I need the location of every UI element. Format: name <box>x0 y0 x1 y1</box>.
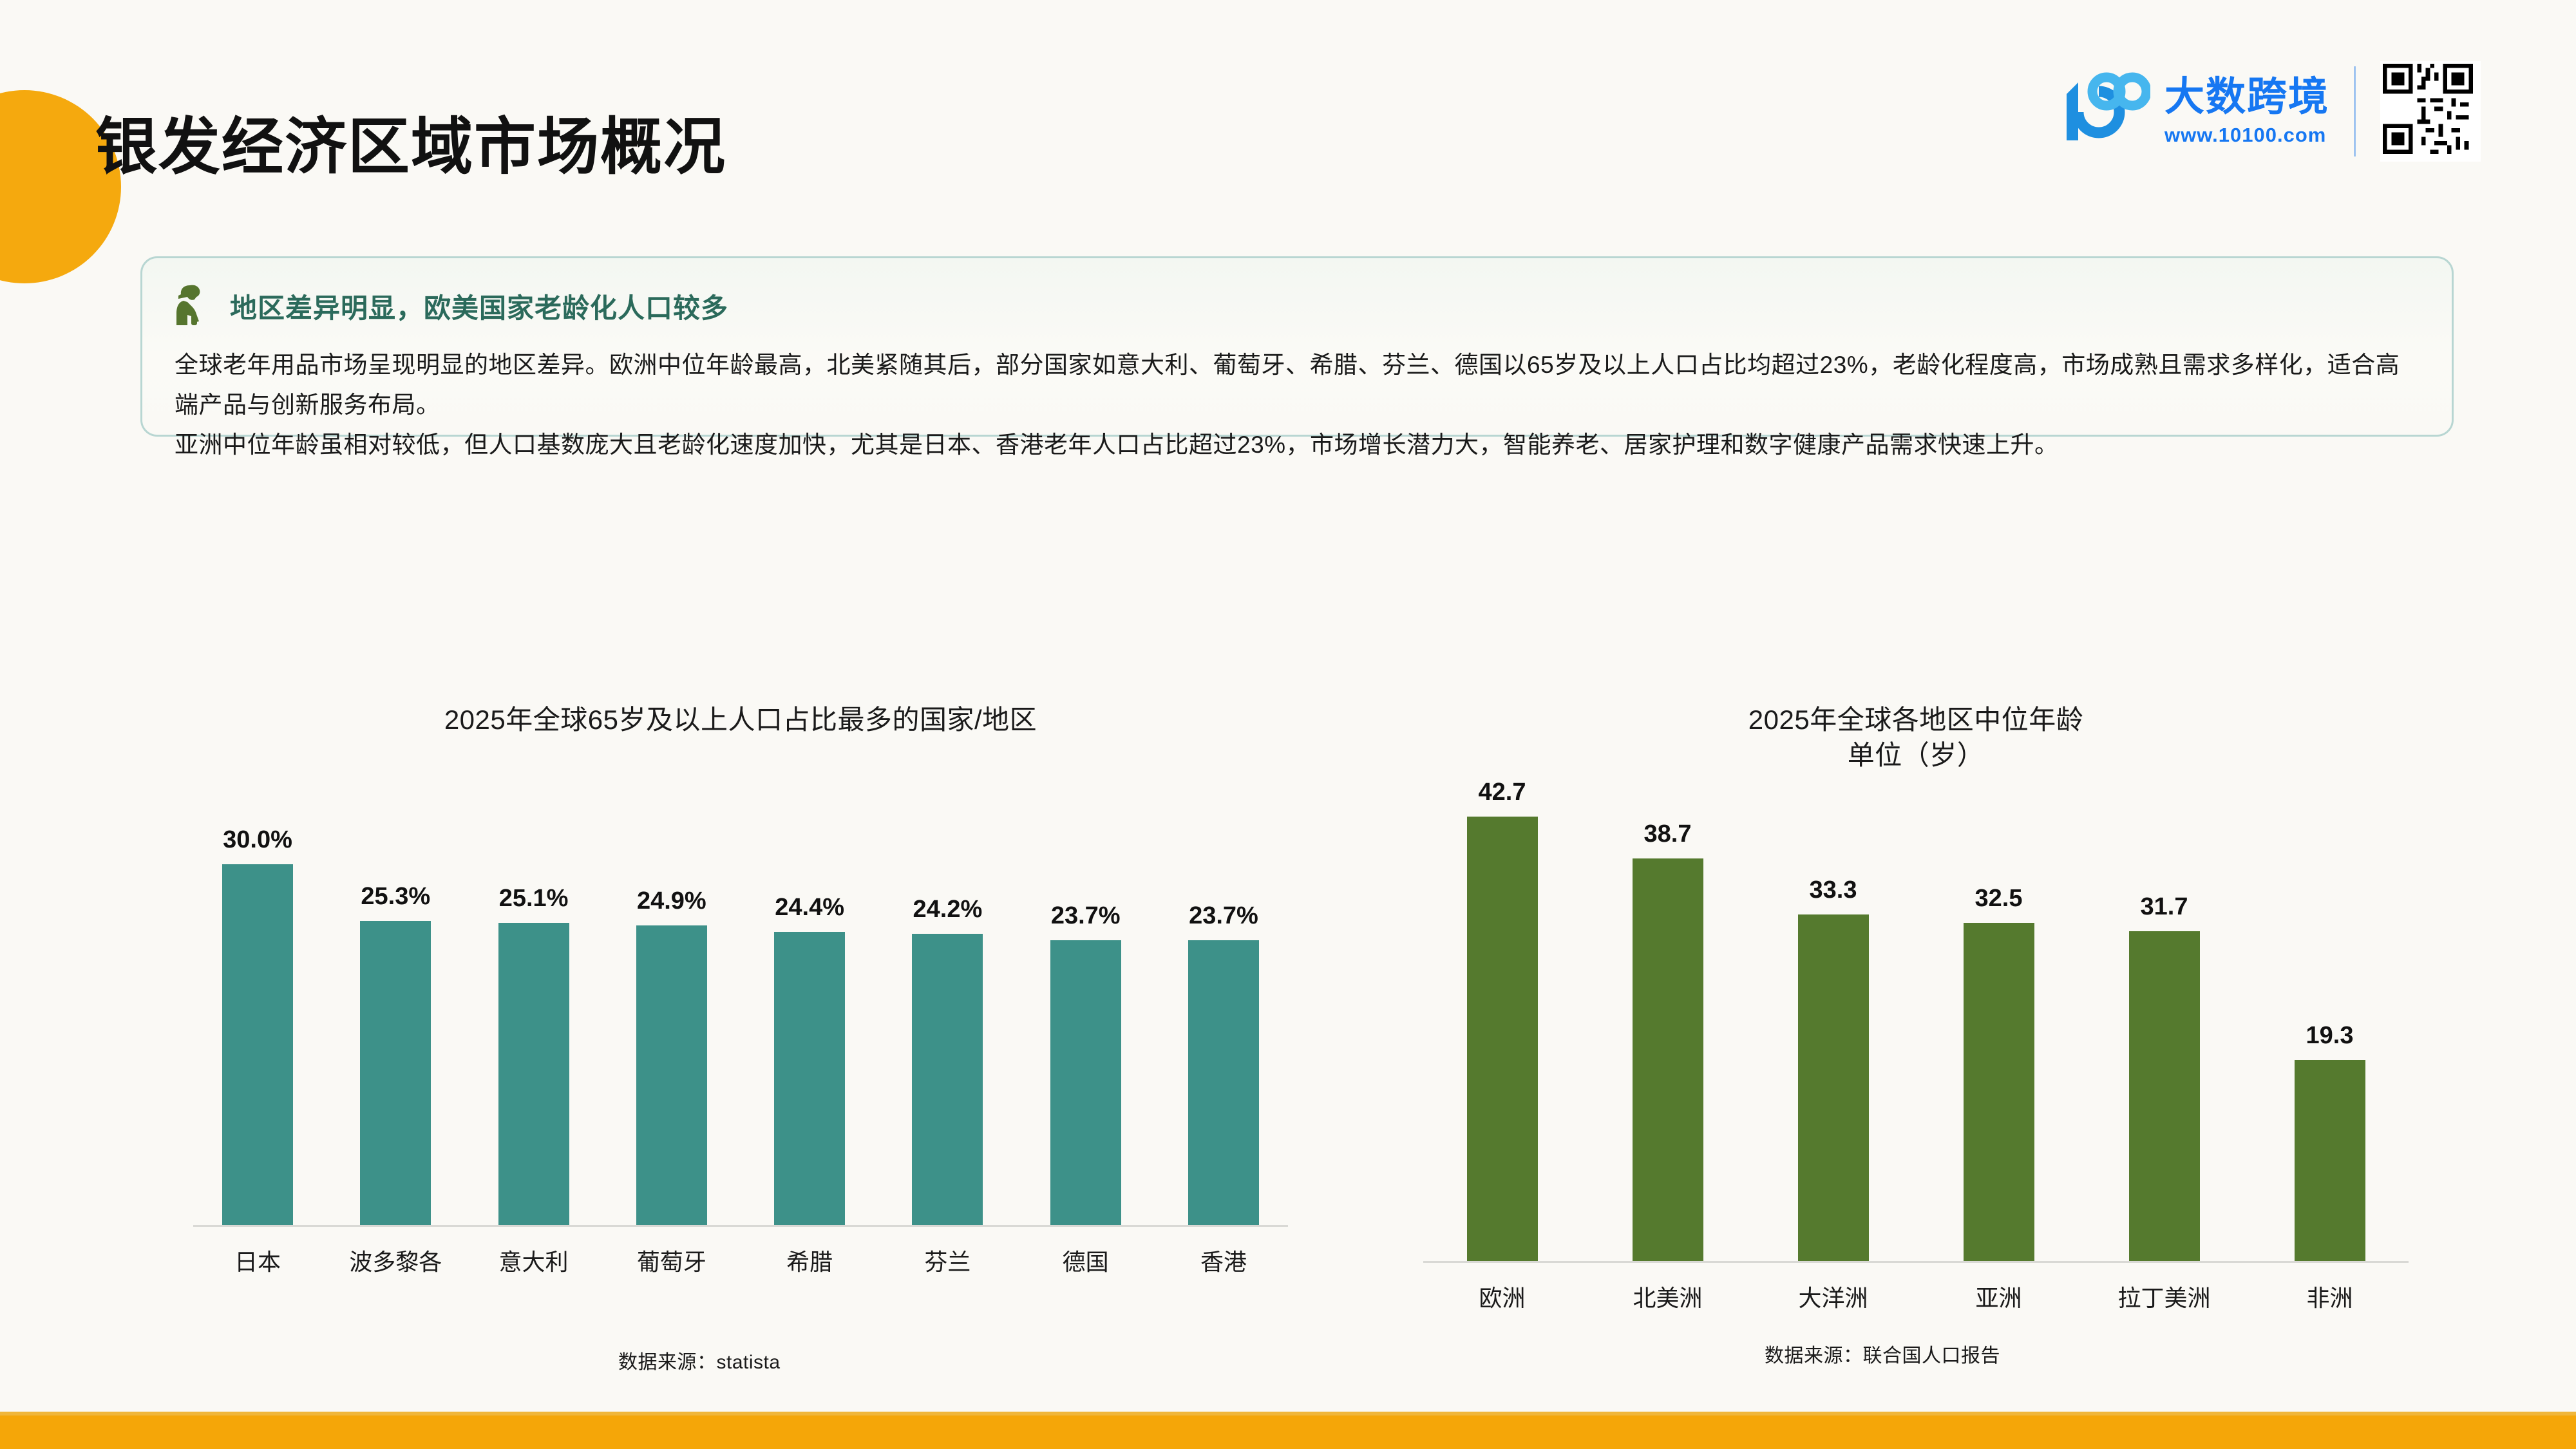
insight-card-header: 地区差异明显，欧美国家老龄化人口较多 <box>175 281 2420 331</box>
brand-left: 大数跨境 www.10100.com <box>2054 68 2329 155</box>
tick-label: 德国 <box>1021 1244 1150 1277</box>
tick-label: 葡萄牙 <box>607 1244 736 1277</box>
bar-value-label: 24.2% <box>913 896 983 923</box>
bar-value-label: 42.7 <box>1479 779 1526 806</box>
bar-rect <box>360 921 431 1225</box>
tick-label: 非洲 <box>2251 1280 2409 1313</box>
tick-label: 亚洲 <box>1920 1280 2078 1313</box>
brand-logo-block: 大数跨境 www.10100.com <box>2054 61 2481 162</box>
bar-rect <box>636 925 707 1225</box>
bar-column: 23.7% <box>1021 774 1150 1225</box>
bar-value-label: 30.0% <box>223 826 292 854</box>
bar-column: 19.3 <box>2251 765 2409 1261</box>
chart-median-age: 2025年全球各地区中位年龄 单位（岁） 42.738.733.332.531.… <box>1423 702 2409 1263</box>
chart-right-plot: 42.738.733.332.531.719.3 欧洲北美洲大洋洲亚洲拉丁美洲非… <box>1423 767 2409 1263</box>
bar-column: 23.7% <box>1159 774 1288 1225</box>
bar-column: 32.5 <box>1920 765 2078 1261</box>
bar-column: 24.9% <box>607 774 736 1225</box>
chart-left-plot: 30.0%25.3%25.1%24.9%24.4%24.2%23.7%23.7%… <box>193 776 1288 1227</box>
bar-value-label: 19.3 <box>2306 1022 2354 1050</box>
bar-value-label: 23.7% <box>1051 902 1121 930</box>
bar-rect <box>1188 940 1259 1225</box>
footer-bar <box>0 1416 2576 1449</box>
bar-rect <box>1050 940 1121 1225</box>
insight-paragraph-2: 亚洲中位年龄虽相对较低，但人口基数庞大且老龄化速度加快，尤其是日本、香港老年人口… <box>175 425 2420 465</box>
brand-divider <box>2354 66 2356 156</box>
bar-rect <box>774 932 845 1225</box>
bar-rect <box>912 934 983 1225</box>
chart-right-tick-labels: 欧洲北美洲大洋洲亚洲拉丁美洲非洲 <box>1423 1263 2409 1313</box>
chart-left-source: 数据来源：statista <box>618 1346 781 1374</box>
chart-left-title: 2025年全球65岁及以上人口占比最多的国家/地区 <box>193 702 1288 737</box>
chart-right-title-line1: 2025年全球各地区中位年龄 <box>1748 705 2083 735</box>
tick-label: 日本 <box>193 1244 322 1277</box>
bar-value-label: 32.5 <box>1975 885 2023 913</box>
insight-paragraph-1: 全球老年用品市场呈现明显的地区差异。欧洲中位年龄最高，北美紧随其后，部分国家如意… <box>175 345 2420 425</box>
brand-texts: 大数跨境 www.10100.com <box>2164 76 2329 146</box>
qr-code-icon <box>2380 61 2481 162</box>
bar-rect <box>1467 817 1538 1261</box>
tick-label: 北美洲 <box>1589 1280 1747 1313</box>
bar-column: 33.3 <box>1754 765 1912 1261</box>
tick-label: 欧洲 <box>1423 1280 1581 1313</box>
bar-value-label: 24.9% <box>637 887 706 915</box>
bar-rect <box>222 864 293 1225</box>
tick-label: 芬兰 <box>883 1244 1012 1277</box>
bar-rect <box>2295 1060 2365 1261</box>
tick-label: 意大利 <box>469 1244 598 1277</box>
bar-rect <box>498 923 569 1225</box>
bar-value-label: 33.3 <box>1810 876 1857 904</box>
tick-label: 波多黎各 <box>331 1244 460 1277</box>
chart-left-tick-labels: 日本波多黎各意大利葡萄牙希腊芬兰德国香港 <box>193 1227 1288 1277</box>
elderly-person-icon <box>175 281 216 331</box>
insight-card: 地区差异明显，欧美国家老龄化人口较多 全球老年用品市场呈现明显的地区差异。欧洲中… <box>140 256 2454 437</box>
tick-label: 拉丁美洲 <box>2085 1280 2243 1313</box>
bar-value-label: 23.7% <box>1189 902 1258 930</box>
bar-column: 31.7 <box>2085 765 2243 1261</box>
insight-card-title: 地区差异明显，欧美国家老龄化人口较多 <box>230 287 728 326</box>
bar-column: 38.7 <box>1589 765 1747 1261</box>
bar-column: 24.4% <box>745 774 874 1225</box>
page-title: 银发经济区域市场概况 <box>95 97 726 186</box>
tick-label: 香港 <box>1159 1244 1288 1277</box>
bar-rect <box>1633 858 1703 1261</box>
insight-card-body: 全球老年用品市场呈现明显的地区差异。欧洲中位年龄最高，北美紧随其后，部分国家如意… <box>175 345 2420 465</box>
bar-rect <box>1964 923 2034 1261</box>
10100-logo-icon <box>2054 68 2150 155</box>
chart-elderly-share: 2025年全球65岁及以上人口占比最多的国家/地区 30.0%25.3%25.1… <box>193 702 1288 1227</box>
bar-rect <box>1798 914 1869 1261</box>
bar-value-label: 25.3% <box>361 883 430 911</box>
tick-label: 希腊 <box>745 1244 874 1277</box>
tick-label: 大洋洲 <box>1754 1280 1912 1313</box>
chart-right-title: 2025年全球各地区中位年龄 单位（岁） <box>1423 702 2409 773</box>
brand-name: 大数跨境 <box>2164 76 2329 118</box>
bar-column: 25.1% <box>469 774 598 1225</box>
bar-value-label: 38.7 <box>1644 820 1692 848</box>
bar-column: 25.3% <box>331 774 460 1225</box>
bar-value-label: 31.7 <box>2141 893 2188 921</box>
chart-right-bars: 42.738.733.332.531.719.3 <box>1423 765 2409 1261</box>
bar-column: 42.7 <box>1423 765 1581 1261</box>
bar-value-label: 24.4% <box>775 894 844 922</box>
bar-column: 30.0% <box>193 774 322 1225</box>
chart-left-bars: 30.0%25.3%25.1%24.9%24.4%24.2%23.7%23.7% <box>193 774 1288 1225</box>
bar-column: 24.2% <box>883 774 1012 1225</box>
bar-value-label: 25.1% <box>499 885 569 913</box>
bar-rect <box>2129 931 2200 1261</box>
chart-right-source: 数据来源：联合国人口报告 <box>1765 1340 2000 1368</box>
brand-url: www.10100.com <box>2164 124 2326 147</box>
